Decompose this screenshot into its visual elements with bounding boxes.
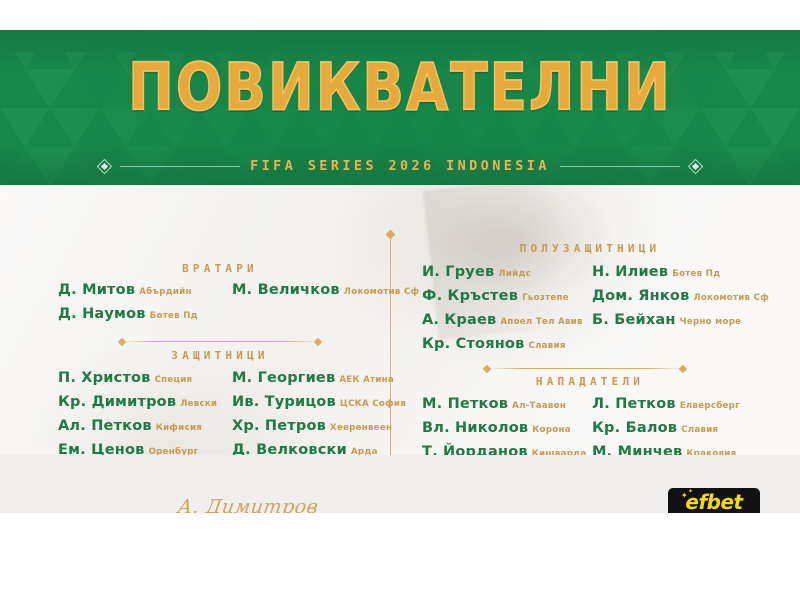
poster-title-wrap: ПОВИКВАТЕЛНИ (0, 56, 800, 109)
subtitle-row: FIFA SERIES 2026 INDONESIA (0, 158, 800, 174)
player-name: Хр. Петров (232, 418, 326, 434)
player-club: Елверсберг (680, 401, 740, 411)
player-name: А. Краев (422, 312, 496, 328)
player-club: Корона (532, 425, 571, 435)
list-item: Л. ПетковЕлверсберг (592, 396, 740, 412)
list-item: Вл. НиколовКорона (422, 420, 607, 436)
player-club: Черно море (680, 317, 742, 327)
list-item: Ф. КръстевГьозтепе (422, 288, 583, 304)
section-heading-goalkeepers: ВРАТАРИ (55, 262, 385, 275)
player-club: Славия (528, 341, 565, 351)
list-item: Дом. ЯнковЛокомотив Сф (592, 288, 769, 304)
player-club: Кифисия (156, 423, 202, 433)
player-name: М. Петков (422, 396, 508, 412)
midfielders-left-column: И. ГруевЛийдс Ф. КръстевГьозтепе А. Крае… (422, 264, 583, 360)
defenders-right-column: М. ГеоргиевАЕК Атина Ив. ТурицовЦСКА Соф… (232, 370, 406, 466)
signature-block: А. Димитров (178, 496, 338, 513)
player-club: Лийдс (498, 269, 531, 279)
player-club: Гьозтепе (522, 293, 569, 303)
player-name: Ал. Петков (58, 418, 152, 434)
player-club: АЕК Атина (339, 375, 394, 385)
section-rule-defenders (122, 341, 318, 342)
player-name: П. Христов (58, 370, 151, 386)
player-club: Апоел Тел Авив (500, 317, 582, 327)
player-name: Ив. Турицов (232, 394, 336, 410)
list-item: А. КраевАпоел Тел Авив (422, 312, 583, 328)
list-item: Кр. БаловСлавия (592, 420, 740, 436)
sponsor-logo[interactable]: ✦ ✦ efbet ГЕНЕРАЛЕН СПОНСОР (668, 488, 760, 513)
section-heading-forwards: НАПАДАТЕЛИ (420, 375, 760, 388)
player-club: Ботев Пд (150, 311, 198, 321)
poster-subtitle: FIFA SERIES 2026 INDONESIA (250, 158, 550, 174)
player-name: Д. Наумов (58, 306, 146, 322)
list-item: Б. БейханЧерно море (592, 312, 769, 328)
subtitle-rule-right (560, 166, 680, 167)
list-item: И. ГруевЛийдс (422, 264, 583, 280)
player-name: Кр. Стоянов (422, 336, 524, 352)
list-item: Д. НаумовБотев Пд (58, 306, 198, 322)
coach-signature: А. Димитров (176, 496, 339, 513)
list-item: Ив. ТурицовЦСКА София (232, 394, 406, 410)
list-item: Кр. СтояновСлавия (422, 336, 583, 352)
player-club: Локомотив Сф (693, 293, 769, 303)
player-name: Кр. Димитров (58, 394, 176, 410)
player-club: Левски (180, 399, 217, 409)
goalkeepers-right-column: М. ВеличковЛокомотив Сф (232, 282, 419, 306)
player-name: Б. Бейхан (592, 312, 676, 328)
player-name: Н. Илиев (592, 264, 668, 280)
player-club: Специя (155, 375, 193, 385)
goalkeepers-left-column: Д. МитовАбърдийн Д. НаумовБотев Пд (58, 282, 198, 330)
callup-poster: ПОВИКВАТЕЛНИ FIFA SERIES 2026 INDONESIA … (0, 30, 800, 513)
player-name: Кр. Балов (592, 420, 677, 436)
player-club: Хееренвеен (330, 423, 392, 433)
player-club: Локомотив Сф (344, 287, 420, 297)
player-club: Ботев Пд (672, 269, 720, 279)
diamond-ornament-right-icon (688, 158, 704, 174)
star-icon: ✦ (681, 492, 688, 500)
poster-header: ПОВИКВАТЕЛНИ FIFA SERIES 2026 INDONESIA (0, 30, 800, 185)
list-item: Ал. ПетковКифисия (58, 418, 217, 434)
list-item: М. ГеоргиевАЕК Атина (232, 370, 406, 386)
player-club: Абърдийн (139, 287, 192, 297)
list-item: М. ВеличковЛокомотив Сф (232, 282, 419, 298)
list-item: Хр. ПетровХееренвеен (232, 418, 406, 434)
subtitle-rule-left (120, 166, 240, 167)
diamond-ornament-left-icon (97, 158, 113, 174)
player-name: Дом. Янков (592, 288, 689, 304)
section-heading-defenders: ЗАЩИТНИЦИ (55, 349, 385, 362)
star-small-icon: ✦ (688, 489, 693, 495)
section-rule-forwards (487, 368, 683, 369)
midfielders-right-column: Н. ИлиевБотев Пд Дом. ЯнковЛокомотив Сф … (592, 264, 769, 336)
player-name: Вл. Николов (422, 420, 528, 436)
player-name: М. Георгиев (232, 370, 335, 386)
player-club: ЦСКА София (340, 399, 406, 409)
list-item: М. ПетковАл-Таавон (422, 396, 607, 412)
list-item: Н. ИлиевБотев Пд (592, 264, 769, 280)
page-title: ПОВИКВАТЕЛНИ (0, 56, 800, 121)
section-heading-midfielders: ПОЛУЗАЩИТНИЦИ (420, 242, 760, 255)
player-name: Ф. Кръстев (422, 288, 518, 304)
player-name: М. Величков (232, 282, 340, 298)
player-name: Л. Петков (592, 396, 676, 412)
player-name: Д. Митов (58, 282, 135, 298)
player-club: Славия (681, 425, 718, 435)
player-club: Ал-Таавон (512, 401, 566, 411)
list-item: Д. МитовАбърдийн (58, 282, 198, 298)
player-name: И. Груев (422, 264, 494, 280)
list-item: Кр. ДимитровЛевски (58, 394, 217, 410)
list-item: П. ХристовСпеция (58, 370, 217, 386)
